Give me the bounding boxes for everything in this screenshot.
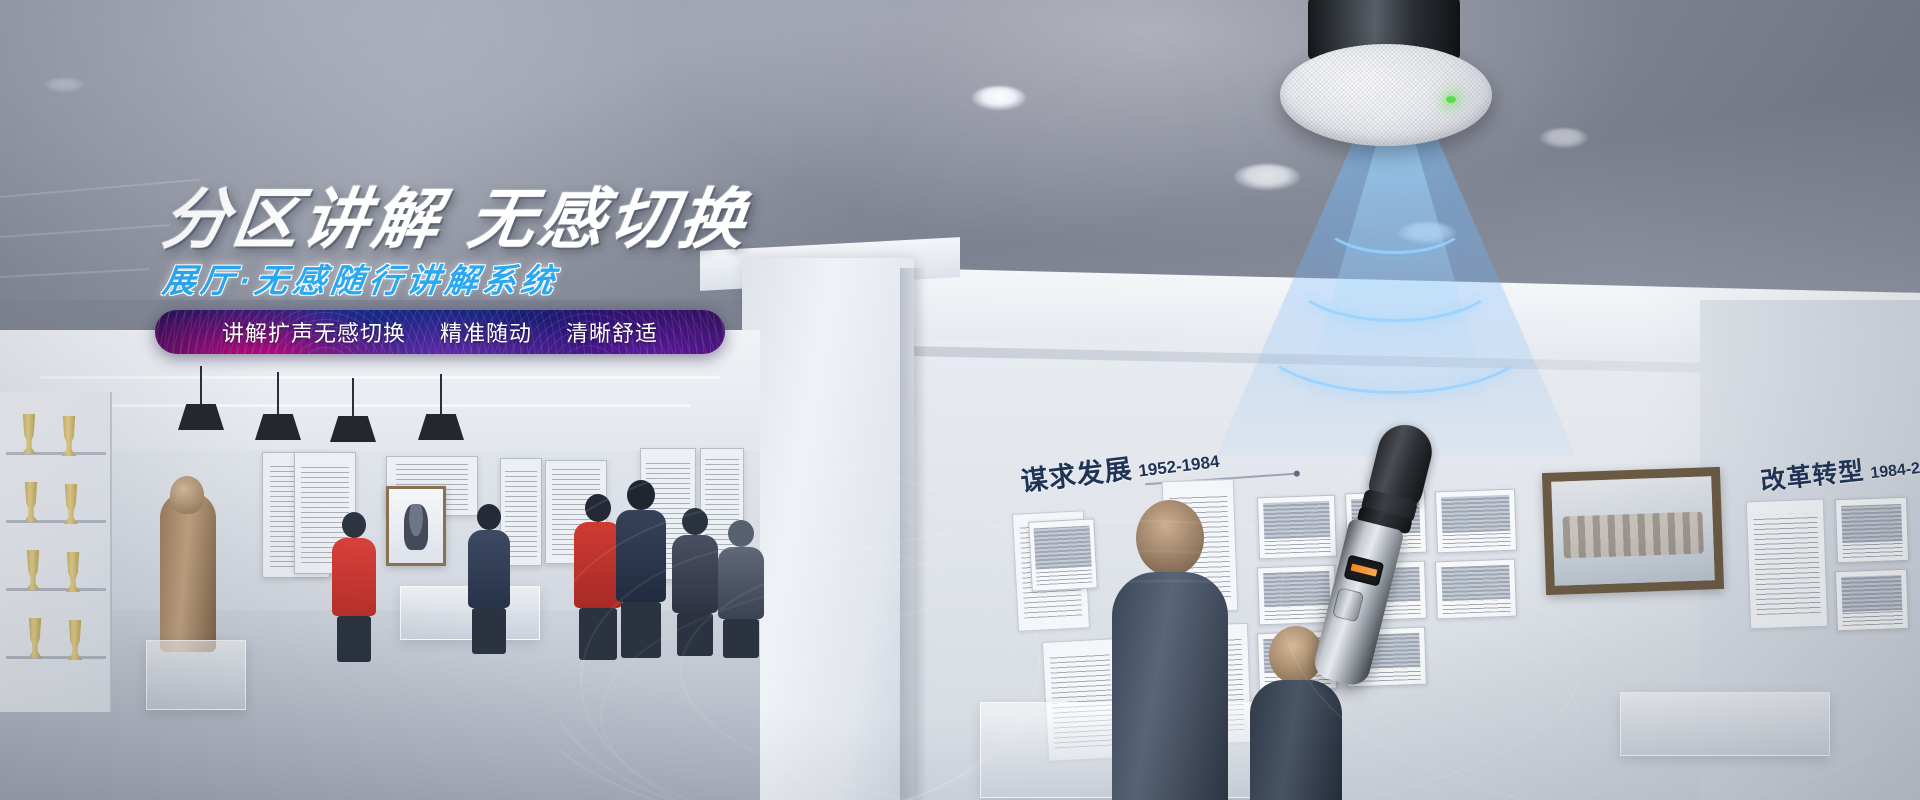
visitor-legs bbox=[337, 616, 371, 662]
headline-part-right: 无感切换 bbox=[464, 182, 754, 256]
wall-corner-shading bbox=[900, 268, 926, 800]
visitor-head bbox=[728, 520, 754, 547]
feature-item-3: 清晰舒适 bbox=[566, 316, 658, 348]
visitor bbox=[614, 480, 668, 658]
visitor bbox=[716, 520, 766, 658]
feature-pill: 讲解扩声无感切换 精准随动 清晰舒适 bbox=[155, 310, 725, 354]
pendant-lamp-rod bbox=[277, 372, 279, 416]
hall-ceiling-trim bbox=[90, 404, 690, 407]
visitor-head bbox=[477, 504, 501, 530]
visitor-legs bbox=[677, 613, 713, 656]
banner-stage: 谋求发展1952-1984 改革转型1984-2010 bbox=[0, 0, 1920, 800]
visitor-legs bbox=[579, 608, 617, 660]
feature-item-1: 讲解扩声无感切换 bbox=[222, 316, 406, 348]
visitor-head bbox=[585, 494, 611, 522]
showcase-shelf bbox=[6, 452, 106, 455]
visitor-head bbox=[1136, 500, 1204, 576]
visitor bbox=[670, 508, 720, 656]
pendant-lamp-rod bbox=[352, 378, 354, 418]
speaker-status-led bbox=[1446, 96, 1456, 103]
ceiling-downlight bbox=[44, 78, 84, 92]
visitor-legs bbox=[723, 619, 759, 658]
showcase-shelf bbox=[6, 520, 106, 523]
ceiling-downlight bbox=[972, 86, 1026, 110]
visitor-body bbox=[468, 530, 510, 608]
visitor-body bbox=[672, 535, 718, 613]
exhibition-pillar bbox=[742, 258, 914, 800]
exhibition-heading-2-years: 1984-2010 bbox=[1870, 457, 1920, 482]
terracotta-statue bbox=[160, 492, 216, 652]
wall-photo-frame bbox=[1835, 497, 1909, 563]
wall-photo-frame bbox=[1435, 489, 1517, 554]
showcase-shelf bbox=[6, 588, 106, 591]
wall-photo-frame bbox=[1435, 559, 1517, 620]
visitor-body bbox=[1112, 572, 1228, 800]
visitor-body bbox=[332, 538, 376, 616]
banner-subtitle: 展厅·无感随行讲解系统 bbox=[161, 264, 752, 297]
wall-photo-frame bbox=[1028, 518, 1098, 591]
wall-photo-frame bbox=[1835, 569, 1909, 631]
display-case bbox=[1620, 692, 1830, 756]
wall-photo-frame bbox=[1257, 495, 1337, 560]
hall-ceiling-trim bbox=[40, 376, 720, 379]
visitor-head bbox=[627, 480, 655, 510]
ceiling-downlight bbox=[1540, 128, 1588, 148]
visitor-head bbox=[342, 512, 366, 538]
feature-pill-content: 讲解扩声无感切换 精准随动 清晰舒适 bbox=[155, 310, 725, 354]
showcase-shelf bbox=[6, 656, 106, 659]
wall-text-panel bbox=[1746, 499, 1828, 630]
terracotta-statue-head bbox=[170, 476, 204, 514]
display-case bbox=[146, 640, 246, 710]
headline-part-left: 分区讲解 bbox=[158, 182, 448, 256]
sound-wave-arc bbox=[1252, 270, 1538, 394]
ceiling-speaker-grille bbox=[1280, 44, 1492, 146]
visitor bbox=[466, 504, 512, 654]
wall-painting bbox=[1542, 467, 1724, 595]
banner-text-block: 分区讲解无感切换 展厅·无感随行讲解系统 bbox=[163, 186, 749, 297]
ceiling-downlight bbox=[1234, 164, 1300, 190]
visitor-legs bbox=[621, 602, 661, 658]
hall-portrait bbox=[386, 486, 446, 566]
visitor-head bbox=[682, 508, 708, 535]
visitor bbox=[1110, 500, 1230, 800]
visitor-body bbox=[616, 510, 666, 602]
visitor-body bbox=[1250, 680, 1342, 800]
pendant-lamp-rod bbox=[200, 366, 202, 406]
pendant-lamp-rod bbox=[440, 374, 442, 416]
visitor-legs bbox=[472, 608, 506, 654]
banner-headline: 分区讲解无感切换 bbox=[158, 186, 753, 252]
trophy-showcase bbox=[0, 392, 112, 712]
visitor bbox=[330, 512, 378, 662]
feature-item-2: 精准随动 bbox=[440, 316, 532, 348]
visitor-body bbox=[718, 547, 764, 619]
